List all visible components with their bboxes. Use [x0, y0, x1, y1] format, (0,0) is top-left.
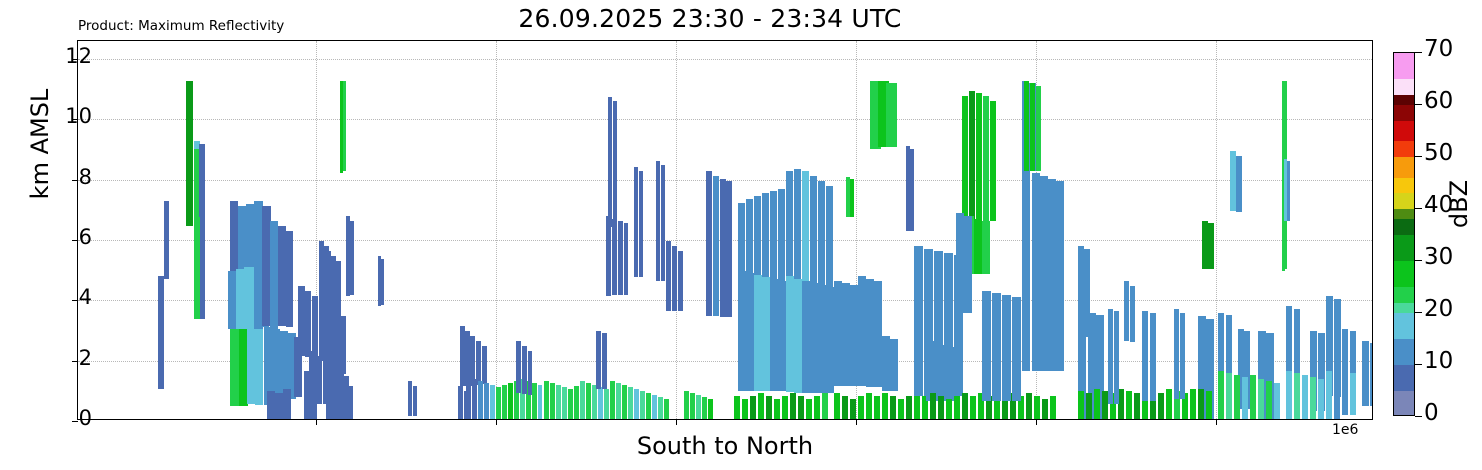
heatmap-cell [956, 213, 964, 313]
heatmap-cell [766, 396, 772, 419]
heatmap-cell [1126, 391, 1132, 419]
colorbar-tick-mark [1415, 104, 1422, 105]
heatmap-cell [556, 385, 561, 419]
heatmap-cell [606, 216, 611, 296]
heatmap-cell [516, 341, 521, 393]
heatmap-cell [1208, 223, 1214, 269]
heatmap-cell [886, 83, 897, 147]
colorbar-band [1394, 339, 1414, 365]
colorbar-band [1394, 219, 1414, 235]
heatmap-cell [286, 231, 293, 327]
heatmap-cell [1034, 396, 1040, 419]
colorbar-tick-mark [1415, 156, 1422, 157]
heatmap-cell [658, 397, 663, 419]
heatmap-cell [624, 223, 628, 295]
heatmap-cell [634, 167, 638, 277]
heatmap-cell [1236, 156, 1242, 212]
heatmap-cell [734, 396, 740, 419]
y-gridline [78, 59, 1372, 60]
heatmap-cell [1310, 377, 1316, 419]
heatmap-cell [538, 385, 542, 419]
heatmap-cell [1166, 389, 1172, 419]
heatmap-cell [298, 286, 305, 356]
colorbar-band [1394, 178, 1414, 194]
colorbar-band [1394, 287, 1414, 303]
heatmap-cell [656, 161, 660, 281]
x-tick-mark [856, 419, 857, 425]
colorbar-tick-mark [1415, 260, 1422, 261]
heatmap-cell [618, 221, 623, 295]
colorbar-band [1394, 141, 1414, 157]
colorbar-band [1394, 391, 1414, 416]
heatmap-cell [1026, 393, 1032, 419]
x-gridline [496, 41, 497, 419]
colorbar-tick-mark [1415, 364, 1422, 365]
heatmap-cell [702, 397, 707, 419]
heatmap-cell [826, 287, 834, 393]
heatmap-cell [754, 275, 762, 391]
heatmap-cell [1124, 281, 1129, 341]
heatmap-cell [312, 296, 318, 356]
heatmap-cell [992, 293, 1001, 401]
heatmap-cell [696, 395, 701, 419]
heatmap-cell [586, 383, 591, 419]
heatmap-cell [610, 381, 615, 419]
heatmap-cell [612, 219, 617, 295]
heatmap-cell [1302, 375, 1308, 419]
heatmap-cell [634, 389, 639, 419]
heatmap-cell [1370, 343, 1372, 406]
colorbar-tick-mark [1415, 208, 1422, 209]
heatmap-cell [742, 399, 748, 419]
heatmap-cell [786, 276, 794, 392]
plot-clip [78, 41, 1372, 419]
heatmap-cell [194, 217, 200, 319]
colorbar-tick-mark [1415, 416, 1422, 417]
colorbar-tick-label: 40 [1424, 192, 1453, 218]
heatmap-cell [672, 246, 677, 311]
heatmap-cell [774, 399, 780, 419]
heatmap-cell [628, 387, 633, 419]
heatmap-cell [882, 336, 890, 391]
x-tick-mark [496, 419, 497, 425]
heatmap-cell [1334, 373, 1340, 419]
heatmap-cell [890, 396, 896, 419]
heatmap-cell [532, 383, 537, 419]
heatmap-cell [608, 97, 612, 227]
heatmap-cell [666, 241, 671, 311]
heatmap-cell [898, 399, 904, 419]
heatmap-cell [275, 393, 283, 419]
heatmap-cell [311, 376, 317, 419]
heatmap-cell [850, 399, 856, 419]
heatmap-cell [1218, 371, 1224, 419]
y-tick-label: 2 [32, 346, 92, 370]
heatmap-cell [1030, 83, 1035, 171]
heatmap-cell [661, 165, 665, 281]
heatmap-cell [158, 331, 164, 389]
heatmap-cell [1294, 373, 1300, 419]
y-tick-label: 10 [32, 104, 92, 128]
heatmap-cell [782, 396, 788, 419]
heatmap-cell [562, 387, 567, 419]
heatmap-cell [842, 396, 848, 419]
heatmap-cell [1002, 295, 1011, 401]
heatmap-cell [1318, 379, 1324, 419]
heatmap-cell [914, 246, 923, 396]
heatmap-cell [954, 396, 960, 419]
heatmap-cell [938, 396, 944, 419]
colorbar-band [1394, 95, 1414, 105]
heatmap-cell [818, 285, 826, 393]
heatmap-cell [810, 283, 818, 393]
heatmap-cell [1056, 181, 1064, 371]
colorbar-band [1394, 121, 1414, 142]
heatmap-cell [726, 181, 732, 317]
heatmap-cell [926, 341, 934, 401]
y-axis-label: km AMSL [26, 74, 54, 214]
heatmap-cell [974, 219, 982, 274]
heatmap-cell [976, 93, 982, 221]
heatmap-cell [1206, 391, 1212, 419]
heatmap-cell [1180, 313, 1185, 399]
heatmap-cell [1048, 179, 1056, 371]
heatmap-cell [496, 387, 501, 419]
heatmap-cell [1012, 297, 1021, 401]
heatmap-cell [930, 393, 936, 419]
heatmap-cell [882, 393, 888, 419]
colorbar-tick-mark [1415, 52, 1422, 53]
heatmap-cell [604, 389, 609, 419]
heatmap-cell [906, 396, 912, 419]
colorbar-tick-label: 0 [1424, 400, 1439, 426]
y-tick-label: 12 [32, 44, 92, 68]
heatmap-cell [790, 393, 796, 419]
heatmap-cell [1326, 371, 1332, 419]
heatmap-cell [464, 391, 468, 419]
heatmap-cell [946, 399, 952, 419]
radar-cross-section-figure: 26.09.2025 23:30 - 23:34 UTC Product: Ma… [0, 0, 1482, 470]
heatmap-cell [482, 346, 487, 384]
heatmap-cell [1242, 377, 1248, 419]
heatmap-cell [602, 333, 607, 389]
heatmap-cell [962, 393, 968, 419]
heatmap-cell [640, 391, 645, 419]
heatmap-cell [962, 96, 968, 221]
heatmap-cell [982, 291, 991, 401]
colorbar [1393, 52, 1415, 416]
heatmap-cell [1032, 173, 1040, 371]
heatmap-cell [794, 279, 802, 393]
colorbar-band [1394, 365, 1414, 391]
heatmap-cell [1362, 341, 1369, 406]
heatmap-cell [646, 393, 651, 419]
heatmap-cell [983, 96, 989, 221]
heatmap-cell [1250, 375, 1256, 419]
heatmap-cell [230, 326, 239, 406]
heatmap-cell [304, 371, 311, 419]
colorbar-band [1394, 261, 1414, 287]
colorbar-band [1394, 209, 1414, 219]
heatmap-cell [874, 396, 880, 419]
heatmap-cell [164, 201, 169, 279]
heatmap-cell [994, 399, 1000, 419]
heatmap-cell [866, 393, 872, 419]
heatmap-cell [664, 399, 669, 419]
colorbar-band [1394, 313, 1414, 339]
heatmap-cell [340, 316, 346, 374]
heatmap-cell [522, 346, 527, 394]
heatmap-cell [678, 251, 683, 311]
heatmap-cell [1198, 389, 1204, 419]
heatmap-cell [1134, 393, 1140, 419]
heatmap-cell [1150, 313, 1156, 401]
heatmap-cell [270, 221, 278, 329]
y-tick-label: 0 [32, 406, 92, 430]
colorbar-tick-label: 30 [1424, 244, 1453, 270]
colorbar-band [1394, 105, 1414, 121]
heatmap-cell [1158, 393, 1164, 419]
colorbar-tick-label: 50 [1424, 140, 1453, 166]
heatmap-cell [478, 381, 483, 419]
heatmap-cell [1174, 309, 1179, 399]
heatmap-cell [834, 281, 842, 386]
heatmap-cell [758, 393, 764, 419]
heatmap-cell [874, 281, 882, 387]
heatmap-cell [834, 393, 840, 419]
heatmap-cell [706, 171, 712, 316]
colorbar-band [1394, 193, 1414, 209]
heatmap-cell [969, 91, 975, 221]
product-annotation: Product: Maximum Reflectivity [78, 18, 284, 34]
heatmap-cell [616, 383, 621, 419]
y-tick-label: 8 [32, 165, 92, 189]
y-gridline [78, 119, 1372, 120]
heatmap-cell [458, 386, 463, 419]
heatmap-cell [1342, 371, 1348, 415]
heatmap-cell [713, 176, 719, 316]
heatmap-cell [990, 101, 996, 221]
heatmap-cell [1078, 391, 1084, 419]
x-tick-mark [676, 419, 677, 425]
heatmap-cell [1226, 373, 1232, 419]
heatmap-cell [343, 81, 346, 171]
heatmap-cell [1086, 393, 1092, 419]
colorbar-band [1394, 53, 1414, 79]
heatmap-cell [1274, 383, 1280, 419]
heatmap-cell [1190, 389, 1196, 419]
colorbar-tick-label: 60 [1424, 88, 1453, 114]
heatmap-cell [158, 276, 164, 338]
heatmap-cell [186, 81, 193, 226]
heatmap-cell [408, 381, 412, 416]
heatmap-cell [255, 325, 263, 405]
heatmap-cell [283, 389, 291, 419]
heatmap-cell [850, 285, 858, 386]
heatmap-cell [472, 379, 477, 419]
heatmap-cell [528, 351, 532, 395]
heatmap-cell [267, 391, 275, 419]
colorbar-band [1394, 79, 1414, 95]
heatmap-cell [596, 331, 601, 389]
heatmap-cell [778, 281, 786, 391]
heatmap-cell [574, 386, 579, 419]
x-tick-mark [1216, 419, 1217, 425]
colorbar-band [1394, 157, 1414, 178]
x-tick-mark [1036, 419, 1037, 425]
heatmap-cell [348, 386, 353, 419]
heatmap-cell [652, 395, 657, 419]
heatmap-cell [814, 396, 820, 419]
heatmap-cell [858, 276, 866, 386]
heatmap-cell [802, 281, 810, 393]
heatmap-cell [914, 393, 920, 419]
x-axis-label: South to North [77, 432, 1373, 460]
heatmap-cell [1108, 309, 1113, 404]
colorbar-tick-label: 10 [1424, 348, 1453, 374]
x-axis-offset-text: 1e6 [1332, 422, 1358, 438]
heatmap-cell [1040, 176, 1048, 371]
heatmap-cell [1266, 381, 1272, 419]
heatmap-cell [822, 393, 828, 419]
heatmap-cell [1350, 373, 1356, 415]
x-gridline [676, 41, 677, 419]
heatmap-cell [639, 171, 643, 277]
colorbar-tick-mark [1415, 312, 1422, 313]
heatmap-cell [738, 271, 746, 391]
heatmap-cell [544, 381, 549, 419]
heatmap-cell [1094, 389, 1100, 419]
heatmap-cell [508, 383, 513, 419]
heatmap-cell [964, 216, 972, 313]
heatmap-cell [746, 273, 754, 391]
heatmap-cell [305, 291, 311, 357]
heatmap-cell [1234, 375, 1240, 419]
heatmap-cell [1258, 379, 1264, 419]
heatmap-cell [502, 385, 507, 419]
heatmap-cell [1286, 371, 1292, 419]
heatmap-cell [381, 259, 384, 305]
heatmap-cell [950, 347, 958, 401]
heatmap-cell [592, 385, 597, 419]
colorbar-tick-label: 70 [1424, 36, 1453, 62]
heatmap-cell [842, 283, 850, 386]
colorbar-gradient [1393, 52, 1415, 416]
heatmap-cell [1130, 286, 1135, 342]
colorbar-band [1394, 303, 1414, 313]
heatmap-cell [850, 179, 854, 217]
heatmap-cell [708, 399, 713, 419]
heatmap-cell [684, 391, 689, 419]
heatmap-cell [484, 383, 489, 419]
plot-area [77, 40, 1373, 420]
heatmap-cell [1036, 86, 1041, 171]
heatmap-cell [798, 396, 804, 419]
heatmap-cell [1142, 311, 1148, 401]
heatmap-cell [580, 381, 585, 419]
x-gridline [1216, 41, 1217, 419]
heatmap-cell [762, 277, 770, 391]
colorbar-tick-label: 20 [1424, 296, 1453, 322]
heatmap-cell [1050, 396, 1056, 419]
heatmap-cell [770, 279, 778, 391]
heatmap-cell [490, 385, 495, 419]
colorbar-band [1394, 235, 1414, 261]
heatmap-cell [1024, 81, 1029, 171]
heatmap-cell [1287, 161, 1290, 221]
heatmap-cell [1022, 171, 1030, 371]
heatmap-cell [413, 386, 417, 416]
x-tick-mark [316, 419, 317, 425]
heatmap-cell [1042, 399, 1048, 419]
heatmap-cell [982, 221, 990, 274]
heatmap-cell [970, 396, 976, 419]
heatmap-cell [890, 339, 898, 391]
heatmap-cell [350, 221, 354, 295]
heatmap-cell [550, 383, 555, 419]
heatmap-cell [858, 396, 864, 419]
heatmap-cell [568, 389, 573, 419]
heatmap-cell [806, 399, 812, 419]
y-tick-label: 6 [32, 225, 92, 249]
heatmap-cell [690, 393, 695, 419]
heatmap-cell [622, 385, 627, 419]
heatmap-cell [613, 101, 617, 227]
heatmap-cell [866, 279, 874, 387]
heatmap-cell [750, 396, 756, 419]
heatmap-cell [598, 387, 603, 419]
heatmap-cell [1114, 311, 1119, 404]
heatmap-cell [910, 149, 914, 231]
heatmap-cell [942, 345, 950, 401]
heatmap-cell [278, 226, 286, 326]
y-tick-label: 4 [32, 285, 92, 309]
